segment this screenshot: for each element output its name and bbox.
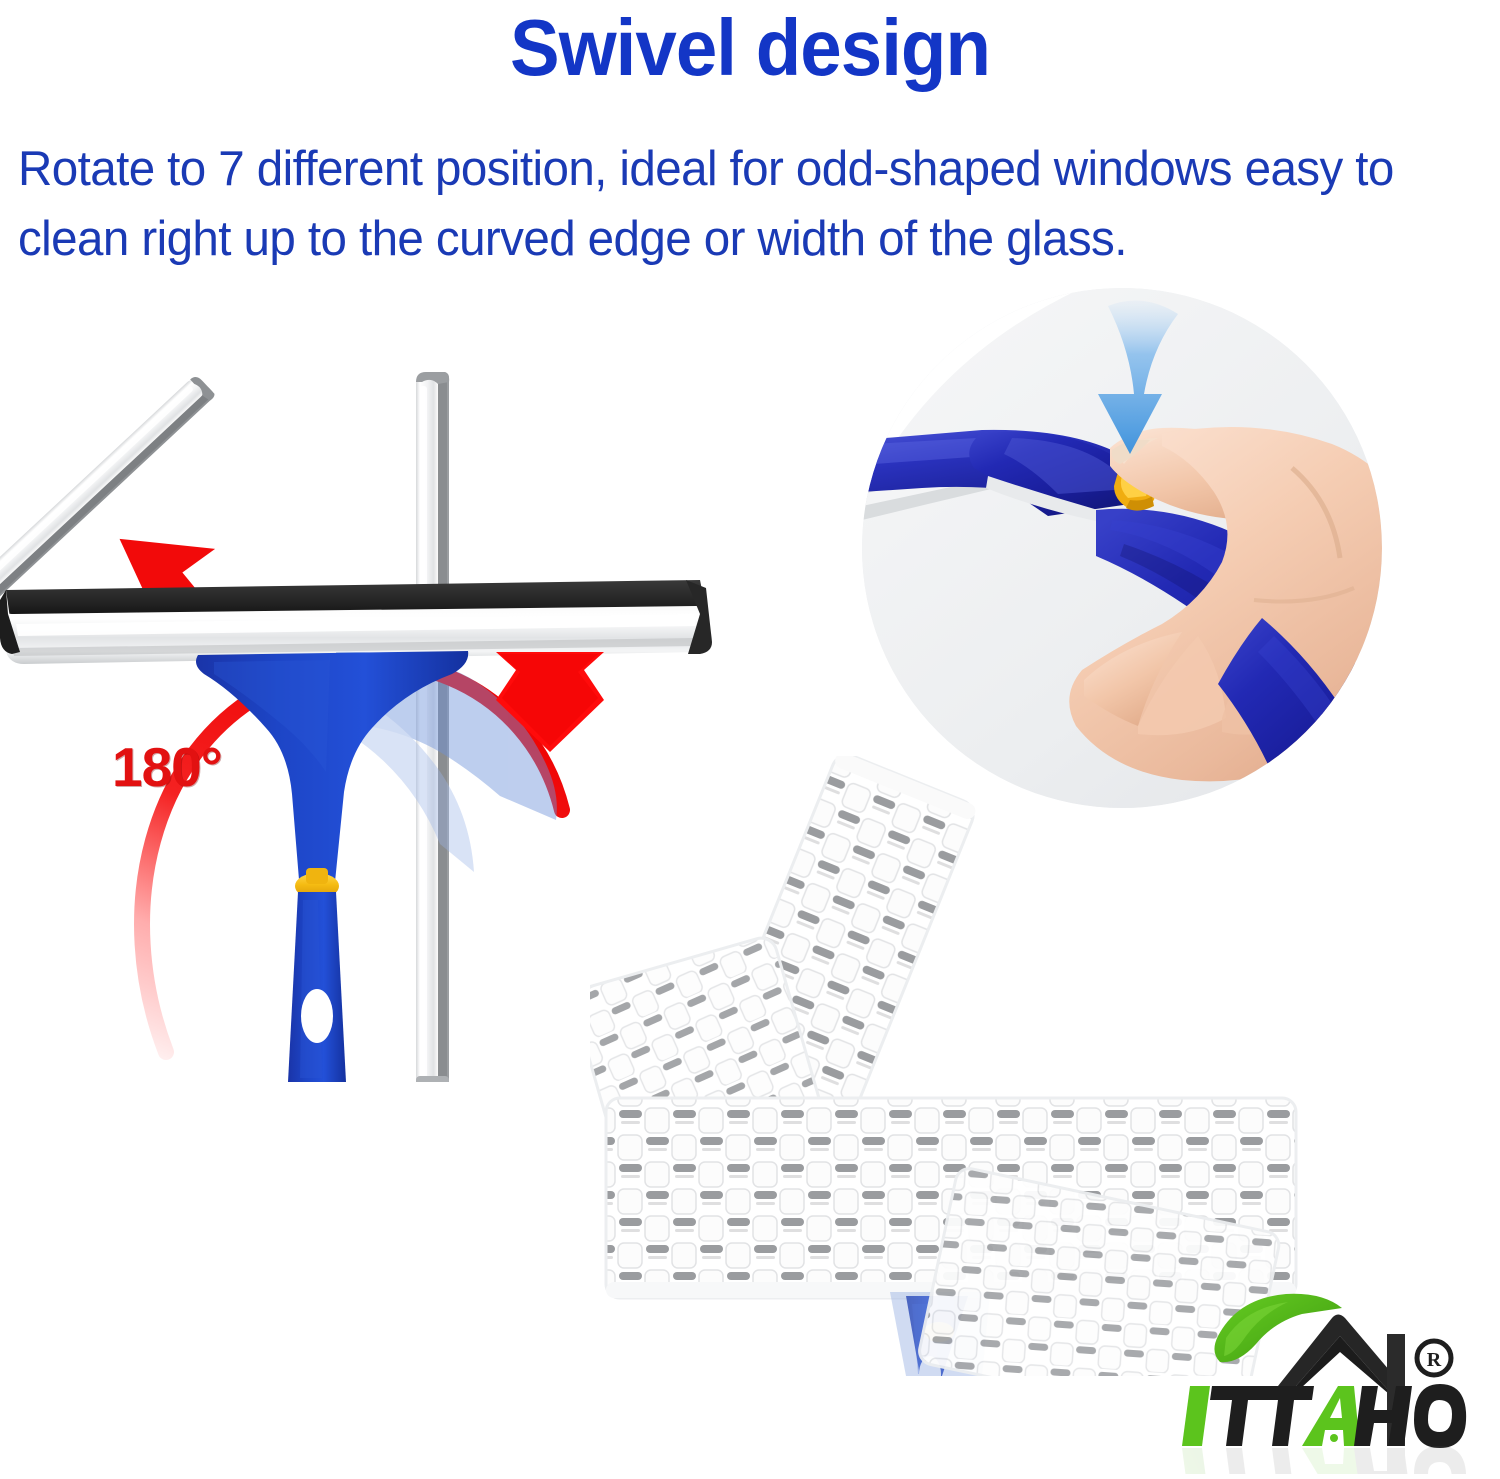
svg-text:R: R (1427, 1349, 1442, 1371)
logo-wordmark (1182, 1384, 1466, 1448)
hand-press-button-inset (862, 288, 1382, 808)
brand-logo: R (1182, 1278, 1492, 1474)
rotation-angle-label: 180° (112, 735, 222, 799)
ittaho-logo-svg: R (1182, 1278, 1492, 1474)
feature-description: Rotate to 7 different position, ideal fo… (18, 134, 1446, 274)
squeegee-blade-horizontal (0, 580, 712, 664)
registered-mark: R (1417, 1341, 1451, 1375)
product-feature-image: Swivel design Rotate to 7 different posi… (0, 0, 1500, 1479)
hand-inset-svg (862, 288, 1382, 808)
page-title: Swivel design (53, 2, 1448, 94)
